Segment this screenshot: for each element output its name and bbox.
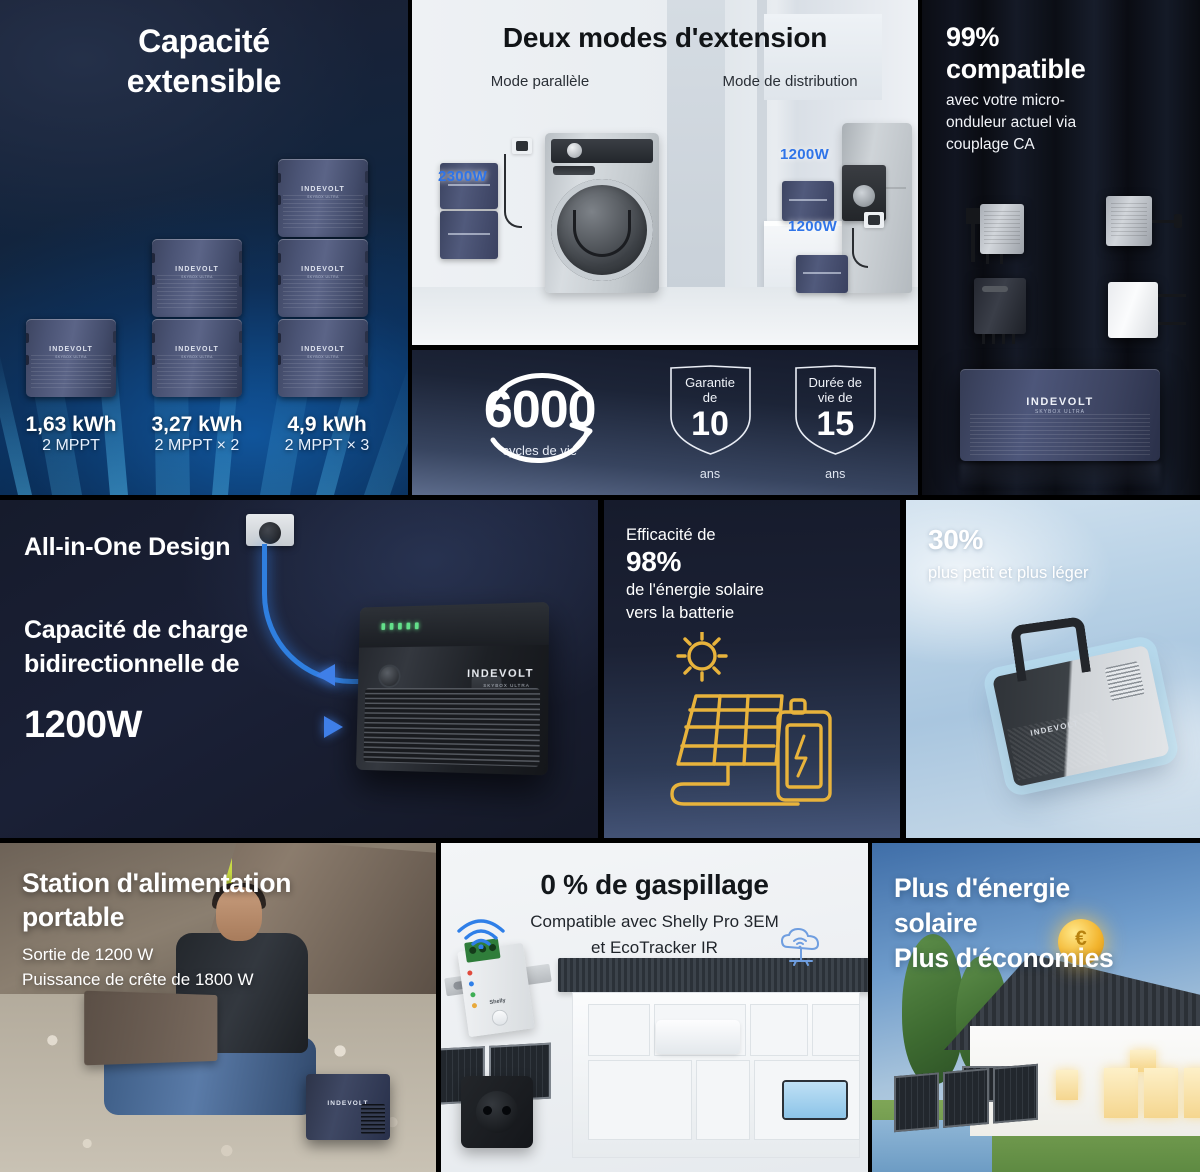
product-reflection [960, 463, 1160, 489]
battery-stack-1: INDEVOLT SKYBOX ULTRA [26, 319, 116, 399]
efficiency-line4: vers la batterie [626, 602, 764, 625]
compatible-percent: 99% [946, 22, 1184, 54]
surface-texture [1007, 711, 1107, 780]
modes-heading: Deux modes d'extension [412, 22, 918, 54]
battery-pack [440, 211, 498, 259]
washing-machine [545, 133, 659, 293]
solar-heading: Plus d'énergie solaire Plus d'économies [894, 871, 1113, 977]
reset-button[interactable] [491, 1009, 509, 1027]
capacity-heading-line2: extensible [0, 62, 408, 102]
marketing-collage: Capacité extensible INDEVOLT SKYBOX ULTR… [0, 0, 1200, 1172]
panel-99-compatible: 99% compatible avec votre micro- onduleu… [922, 0, 1200, 495]
station-heading-line1: Station d'alimentation [22, 867, 291, 901]
solar-heading-line2: solaire [894, 906, 1113, 941]
efficiency-line1: Efficacité de [626, 526, 764, 545]
arrow-right-icon [324, 716, 343, 738]
battery-unit: INDEVOLT SKYBOX ULTRA [26, 319, 116, 397]
product-battery: INDEVOLT SKYBOX ULTRA [960, 369, 1160, 461]
waste-heading: 0 % de gaspillage [441, 869, 868, 901]
solar-panel-battery-icon [648, 632, 860, 807]
wall-socket [512, 138, 532, 154]
battery-pack [796, 255, 848, 293]
panel-30-percent-smaller: 30% plus petit et plus léger INDEVOLT [906, 500, 1200, 838]
aio-title: All-in-One Design [24, 533, 230, 562]
panel-two-expansion-modes: 2300W 1200W 1200W Deux modes d'extension… [412, 0, 918, 345]
mode-parallel-label: Mode parallèle [412, 73, 668, 90]
panel-more-solar-more-savings: Plus d'énergie solaire Plus d'économies [872, 843, 1200, 1172]
warranty-block: Garantie de 10 ans [668, 364, 753, 481]
capacity-heading: Capacité extensible [0, 22, 408, 101]
portable-unit: INDEVOLT [992, 645, 1170, 787]
compatible-sub-2: onduleur actuel via [946, 112, 1184, 134]
aio-big-number: 1200W [24, 704, 142, 747]
lifespan-top: Durée de vie de [793, 375, 878, 406]
smaller-heading: 30% plus petit et plus léger [928, 524, 1089, 583]
solar-heading-line3: Plus d'économies [894, 941, 1113, 976]
battery-unit: INDEVOLT SKYBOX ULTRA [152, 239, 242, 317]
battery-stack-2: INDEVOLT SKYBOX ULTRA INDEVOLT SKYBOX UL… [152, 239, 242, 399]
panel-zero-waste: Shelly 0 % de gaspillage Compatible avec… [441, 843, 868, 1172]
lifespan-number: 15 [793, 407, 878, 441]
capacity-label-3: 4,9 kWh 2 MPPT × 3 [262, 413, 392, 455]
battery-unit: INDEVOLT SKYBOX ULTRA [152, 319, 242, 397]
compatible-sub-1: avec votre micro- [946, 90, 1184, 112]
warranty-number: 10 [668, 407, 753, 441]
station-heading-line2: portable [22, 901, 291, 935]
waste-sub-2: et EcoTracker IR [441, 935, 868, 961]
panel-lifecycle-warranty: 6000 cycles de vie Garantie de 10 ans [412, 350, 918, 495]
efficiency-line3: de l'énergie solaire [626, 579, 764, 602]
panel-portable-power-station: INDEVOLT Station d'alimentation portable… [0, 843, 436, 1172]
capacity-label-2: 3,27 kWh 2 MPPT × 2 [136, 413, 258, 455]
efficiency-heading: Efficacité de 98% de l'énergie solaire v… [626, 526, 764, 625]
cycle-arrows-icon [465, 370, 615, 466]
battery-stack-3: INDEVOLT SKYBOX ULTRA INDEVOLT SKYBOX UL… [278, 159, 368, 399]
lifespan-block: Durée de vie de 15 ans [793, 364, 878, 481]
wall-plug [246, 514, 294, 546]
laptop [84, 991, 217, 1066]
warranty-top: Garantie de [668, 375, 753, 406]
power-label-parallel: 2300W [438, 168, 487, 185]
floor [412, 287, 918, 345]
mode-distribution-label: Mode de distribution [662, 73, 918, 90]
arrow-left-icon [316, 664, 335, 686]
solar-heading-line1: Plus d'énergie [894, 871, 1113, 906]
ac-input-port [378, 665, 401, 688]
panel-all-in-one-design: INDEVOLT SKYBOX ULTRA All-in-One Design … [0, 500, 598, 838]
efficiency-percent: 98% [626, 545, 764, 579]
compatible-sub-3: couplage CA [946, 134, 1184, 156]
battery-unit: INDEVOLT SKYBOX ULTRA [278, 239, 368, 317]
battery-unit: INDEVOLT SKYBOX ULTRA [278, 319, 368, 397]
battery-pack [782, 181, 834, 221]
microinverter-white [1108, 282, 1158, 338]
compatible-heading: 99% compatible avec votre micro- onduleu… [946, 22, 1184, 156]
vent-fan [1105, 661, 1145, 701]
station-heading: Station d'alimentation portable Sortie d… [22, 867, 291, 993]
power-label-dist-1: 1200W [780, 146, 829, 163]
vent-grill [363, 688, 540, 767]
microinverter-grey [980, 204, 1024, 254]
station-spec-2: Puissance de crête de 1800 W [22, 967, 291, 993]
panel-expandable-capacity: Capacité extensible INDEVOLT SKYBOX ULTR… [0, 0, 408, 495]
cycles-block: 6000 cycles de vie [452, 387, 627, 458]
battery-stacks: INDEVOLT SKYBOX ULTRA INDEVOLT SKYBOX UL… [0, 99, 408, 399]
capacity-label-1: 1,63 kWh 2 MPPT [10, 413, 132, 455]
capacity-heading-line1: Capacité [0, 22, 408, 62]
compatible-word: compatible [946, 54, 1184, 86]
waste-sub-1: Compatible avec Shelly Pro 3EM [441, 909, 868, 935]
charging-cable [262, 544, 372, 684]
smaller-sub: plus petit et plus léger [928, 564, 1089, 583]
panel-efficiency-98: Efficacité de 98% de l'énergie solaire v… [604, 500, 900, 838]
wall-socket-block [461, 1076, 533, 1148]
battery-unit: INDEVOLT SKYBOX ULTRA [278, 159, 368, 237]
carry-handle [1010, 616, 1091, 682]
microinverter-dark [974, 278, 1026, 334]
wall-socket [864, 212, 884, 228]
microinverter-grey-2 [1106, 196, 1152, 246]
power-cord [504, 154, 522, 228]
waste-sub: Compatible avec Shelly Pro 3EM et EcoTra… [441, 909, 868, 961]
warranty-unit: ans [668, 467, 753, 481]
power-station-unit: INDEVOLT [306, 1074, 390, 1140]
power-label-dist-2: 1200W [788, 218, 837, 235]
aio-mid: Capacité de charge bidirectionnelle de [24, 614, 248, 681]
house-cutaway [548, 958, 868, 1158]
status-leds [381, 622, 418, 630]
power-station-unit: INDEVOLT SKYBOX ULTRA [356, 602, 549, 775]
smaller-percent: 30% [928, 524, 1089, 556]
station-spec-1: Sortie de 1200 W [22, 942, 291, 968]
lifespan-unit: ans [793, 467, 878, 481]
